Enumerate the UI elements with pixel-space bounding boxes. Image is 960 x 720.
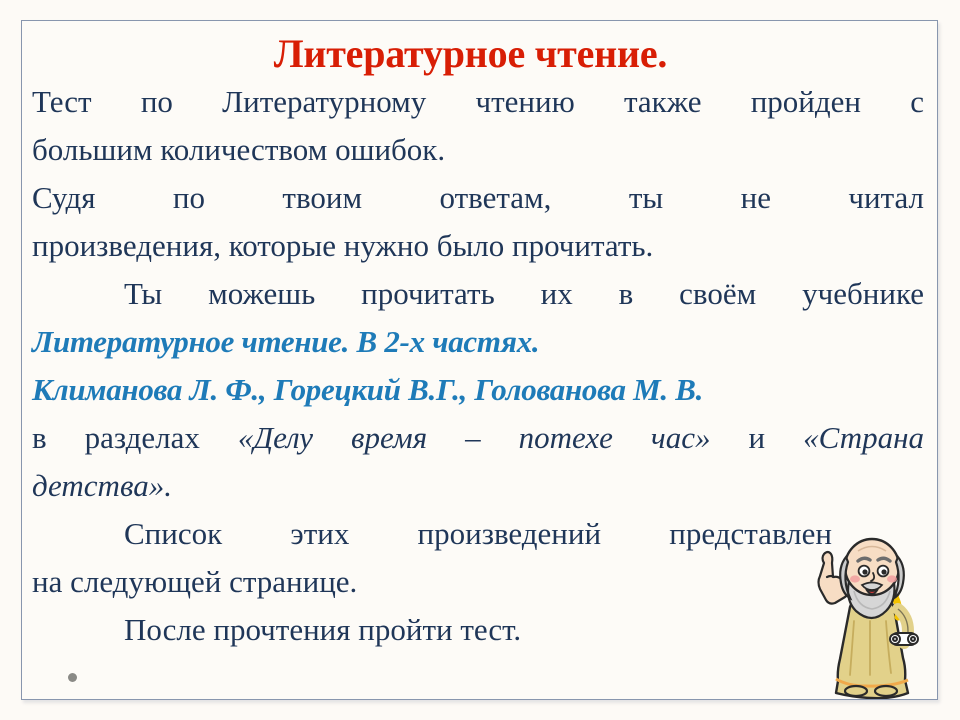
paragraph-posle: После прочтения пройти тест.: [32, 606, 924, 654]
paragraph-spisok-line1: Список этих произведений представлен: [32, 510, 832, 558]
paragraph-sudya-line2: произведения, которые нужно было прочита…: [32, 228, 653, 263]
section-title-delu-vremya: «Делу время – потехе час»: [238, 420, 711, 455]
paragraph-spisok-line2: на следующей странице.: [32, 564, 357, 599]
paragraph-test: Тест по Литературному чтению также пройд…: [32, 78, 924, 174]
paragraph-ty-mozhesh: Ты можешь прочитать их в своём учебнике …: [32, 270, 924, 366]
page-title: Литературное чтение.: [22, 21, 937, 78]
paragraph-sudya: Судя по твоим ответам, ты не читал произ…: [32, 174, 924, 270]
paragraph-spisok: Список этих произведений представлен на …: [32, 510, 924, 606]
paragraph-ty-line1: Ты можешь прочитать их в своём учебнике: [32, 270, 924, 318]
section-title-strana-part1: «Страна: [803, 420, 924, 455]
slide-inner: Литературное чтение. Тест по Литературно…: [22, 21, 937, 699]
book-title-highlight: Литературное чтение. В 2-х частях.: [32, 324, 539, 359]
body-text: Тест по Литературному чтению также пройд…: [22, 78, 937, 654]
bullet-dot: [68, 673, 77, 682]
slide: Литературное чтение. Тест по Литературно…: [0, 0, 960, 720]
sections-plain-a: в разделах: [32, 420, 238, 455]
sections-plain-b: и: [710, 420, 803, 455]
authors-highlight: Климанова Л. Ф., Горецкий В.Г., Головано…: [32, 372, 703, 407]
paragraph-sections-line1: в разделах «Делу время – потехе час» и «…: [32, 414, 924, 462]
paragraph-test-line1: Тест по Литературному чтению также пройд…: [32, 78, 924, 126]
philosopher-illustration: [810, 529, 934, 699]
content-box: Литературное чтение. Тест по Литературно…: [21, 20, 938, 700]
paragraph-sudya-line1: Судя по твоим ответам, ты не читал: [32, 174, 924, 222]
section-title-strana-part2: детства».: [32, 468, 172, 503]
paragraph-sections: в разделах «Делу время – потехе час» и «…: [32, 414, 924, 510]
paragraph-authors: Климанова Л. Ф., Горецкий В.Г., Головано…: [32, 366, 924, 414]
paragraph-test-line2: большим количеством ошибок.: [32, 132, 445, 167]
